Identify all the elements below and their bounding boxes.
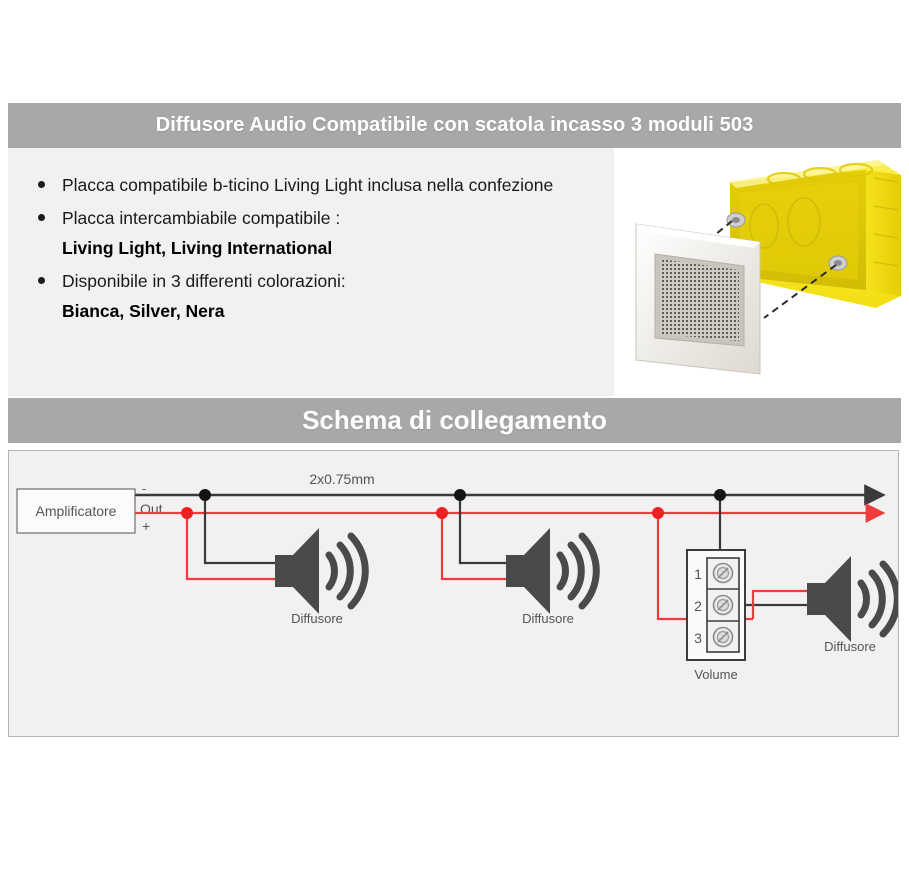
junction-dot: [714, 489, 726, 501]
speaker-icon-2: [506, 528, 596, 614]
wiring-diagram: Amplificatore Out - + 2x0.75mm: [9, 451, 898, 736]
amplifier-plus-label: +: [142, 518, 150, 534]
amplifier-label: Amplificatore: [36, 503, 117, 519]
cable-gauge-label: 2x0.75mm: [309, 471, 374, 487]
feature-text: Placca compatibile b-ticino Living Light…: [62, 175, 553, 195]
speaker-3-wires: [745, 591, 809, 619]
terminal-screw-icon: [714, 596, 733, 615]
speaker-icon-3: [807, 556, 897, 642]
feature-subtext: Bianca, Silver, Nera: [62, 296, 600, 326]
volume-control-module[interactable]: 1 2 3: [687, 550, 745, 660]
schema-section-title: Schema di collegamento: [8, 398, 901, 443]
amplifier-block: Amplificatore: [17, 489, 135, 533]
wiring-diagram-panel: Amplificatore Out - + 2x0.75mm: [8, 450, 899, 737]
volume-terminal-1-label: 1: [694, 566, 702, 582]
terminal-screw-icon: [714, 564, 733, 583]
feature-text: Disponibile in 3 differenti colorazioni:: [62, 271, 346, 291]
faceplate-icon: [636, 224, 760, 374]
speaker-1-label: Diffusore: [291, 611, 343, 626]
volume-terminal-2-label: 2: [694, 598, 702, 614]
feature-text: Placca intercambiabile compatibile :: [62, 208, 340, 228]
product-card-title: Diffusore Audio Compatibile con scatola …: [8, 103, 901, 148]
bullet-dot-icon: [38, 277, 45, 284]
speaker-icon-1: [275, 528, 365, 614]
volume-label: Volume: [694, 667, 737, 682]
volume-terminal-3-label: 3: [694, 630, 702, 646]
list-item: Placca compatibile b-ticino Living Light…: [30, 170, 600, 200]
bullet-dot-icon: [38, 181, 45, 188]
speaker-2-label: Diffusore: [522, 611, 574, 626]
feature-subtext: Living Light, Living International: [62, 233, 600, 263]
amplifier-out-label: Out: [140, 501, 163, 517]
feature-list-panel: Placca compatibile b-ticino Living Light…: [8, 148, 614, 396]
product-photo-panel: [614, 148, 901, 396]
junction-dot: [181, 507, 193, 519]
product-card-body: Placca compatibile b-ticino Living Light…: [8, 148, 901, 396]
junction-dot: [454, 489, 466, 501]
feature-list: Placca compatibile b-ticino Living Light…: [30, 170, 600, 329]
amplifier-minus-label: -: [142, 481, 146, 496]
speaker-3-label: Diffusore: [824, 639, 876, 654]
list-item: Disponibile in 3 differenti colorazioni:…: [30, 266, 600, 326]
junction-dot: [199, 489, 211, 501]
product-photo-illustration: [614, 148, 901, 396]
junction-dot: [436, 507, 448, 519]
bullet-dot-icon: [38, 214, 45, 221]
list-item: Placca intercambiabile compatibile : Liv…: [30, 203, 600, 263]
speaker-2-branch: [436, 489, 508, 579]
junction-dot: [652, 507, 664, 519]
speaker-1-branch: [181, 489, 277, 579]
product-photo: [614, 148, 901, 396]
slide-root: Diffusore Audio Compatibile con scatola …: [0, 0, 909, 888]
terminal-screw-icon: [714, 628, 733, 647]
product-card: Diffusore Audio Compatibile con scatola …: [8, 103, 901, 396]
